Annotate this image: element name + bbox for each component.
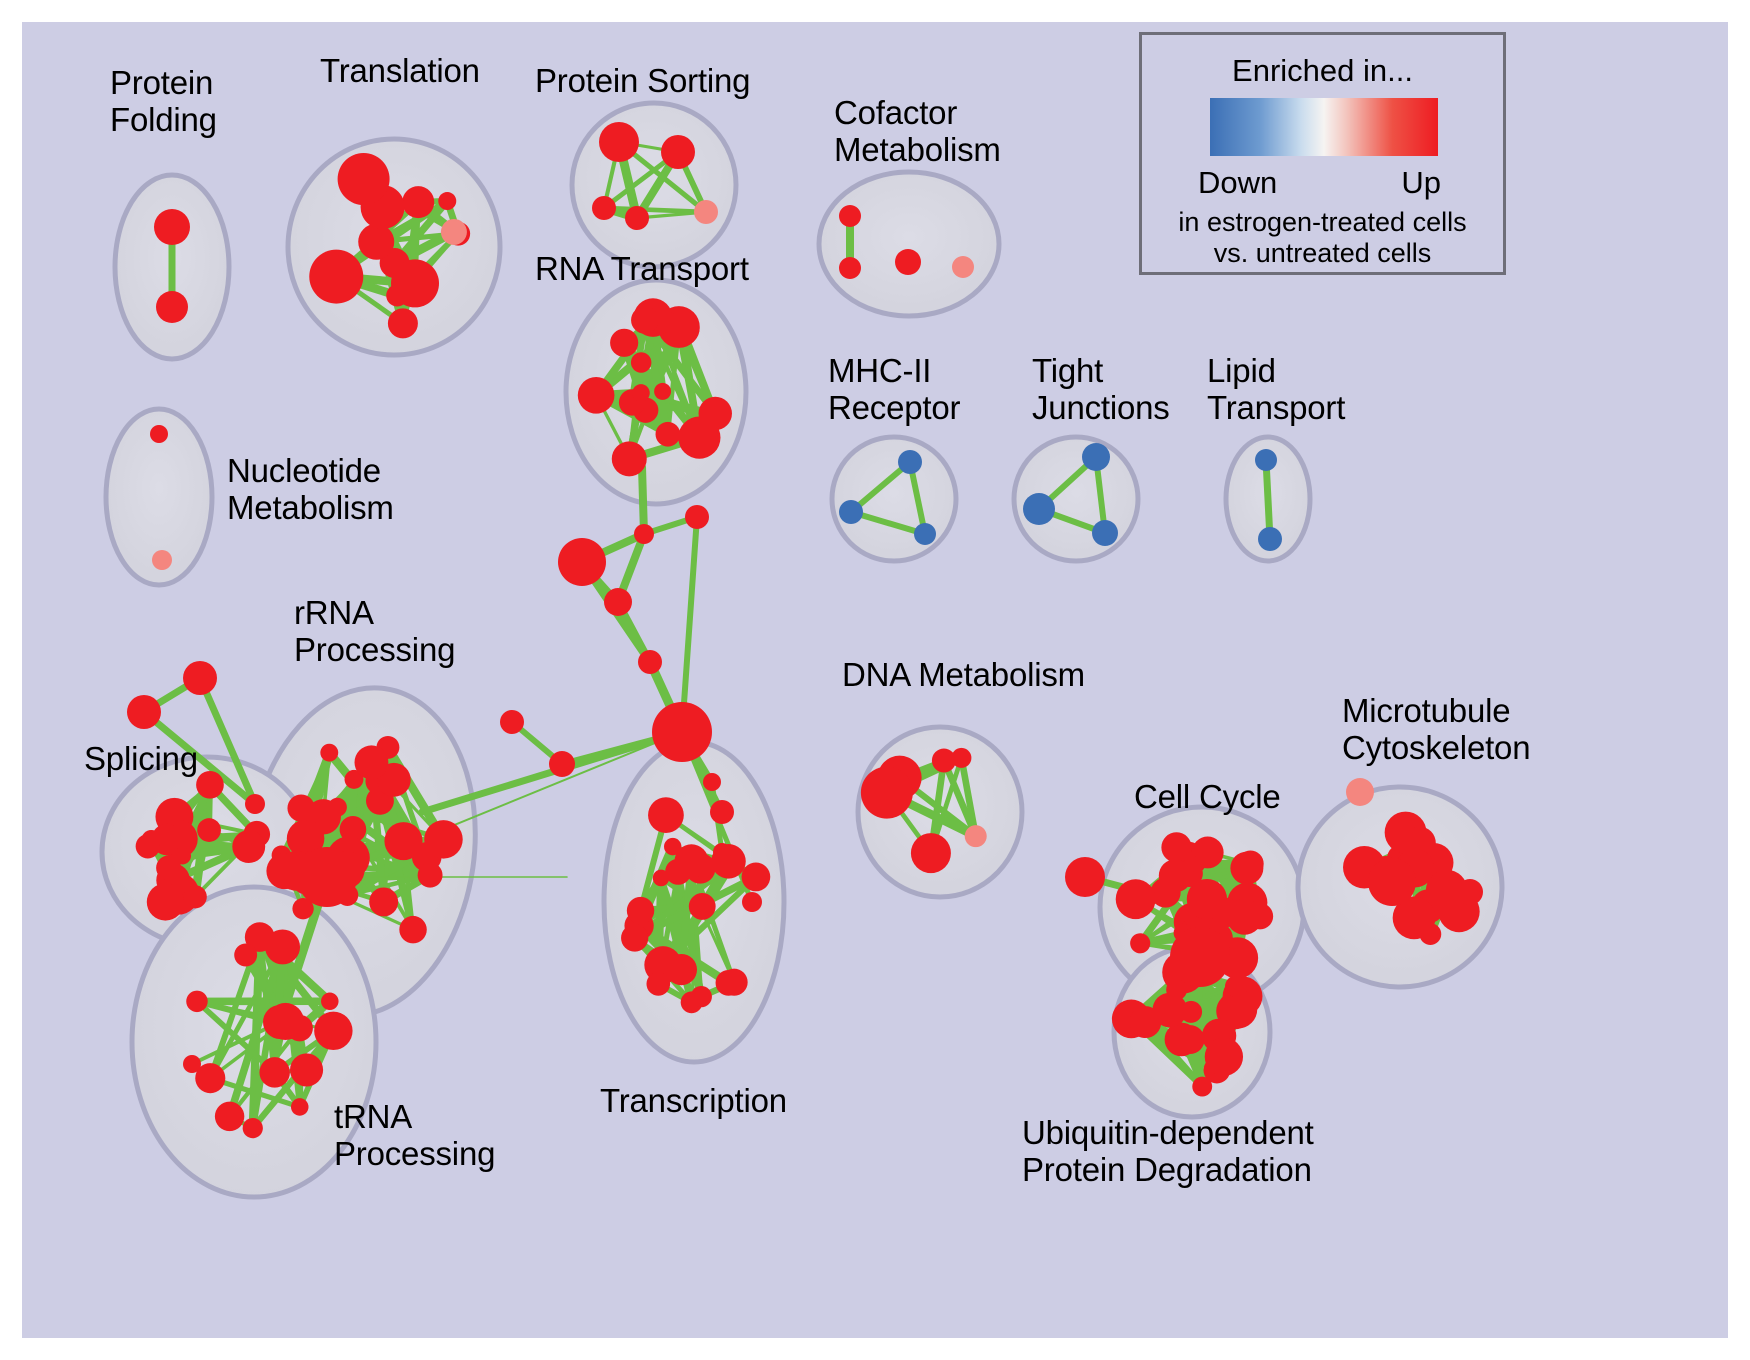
figure-root: Protein FoldingTranslationNucleotide Met…: [0, 0, 1750, 1360]
network-node: [154, 209, 190, 245]
network-node: [638, 650, 662, 674]
cluster-label-translation: Translation: [320, 52, 480, 89]
network-node: [666, 954, 697, 985]
network-node: [127, 695, 161, 729]
legend-low-label: Down: [1198, 165, 1277, 201]
network-node: [911, 833, 951, 873]
cluster-label-cofactor-metabolism: Cofactor Metabolism: [834, 94, 1001, 168]
network-node: [1065, 857, 1105, 897]
network-node: [610, 329, 638, 357]
network-node: [259, 1057, 289, 1087]
network-node: [388, 308, 418, 338]
network-node: [309, 250, 363, 304]
network-node: [369, 887, 398, 916]
network-node: [386, 285, 408, 307]
network-node: [1130, 933, 1150, 953]
network-node: [1205, 1038, 1243, 1076]
cluster-label-splicing: Splicing: [84, 740, 198, 777]
network-node: [1192, 1077, 1212, 1097]
network-canvas: Protein FoldingTranslationNucleotide Met…: [22, 22, 1728, 1338]
network-node: [1419, 923, 1441, 945]
network-node: [1176, 1025, 1205, 1054]
network-node: [742, 892, 762, 912]
network-node: [652, 702, 712, 762]
network-node: [245, 794, 265, 814]
cluster-label-protein-folding: Protein Folding: [110, 64, 217, 138]
network-node: [699, 397, 732, 430]
network-node: [661, 135, 695, 169]
network-node: [402, 186, 434, 218]
network-node: [952, 256, 974, 278]
network-node: [612, 441, 647, 476]
cluster-label-cell-cycle: Cell Cycle: [1134, 778, 1281, 815]
network-node: [1368, 858, 1416, 906]
network-node: [703, 773, 721, 791]
network-node: [839, 257, 861, 279]
network-node: [654, 383, 671, 400]
network-node: [599, 122, 639, 162]
network-node: [265, 929, 300, 964]
network-node: [1152, 993, 1187, 1028]
legend-caption: in estrogen-treated cellsvs. untreated c…: [1142, 207, 1503, 269]
network-node: [358, 224, 394, 260]
network-node: [156, 855, 181, 880]
network-node: [691, 986, 712, 1007]
network-node: [1237, 850, 1263, 876]
network-node: [197, 818, 221, 842]
network-node: [243, 1118, 263, 1138]
network-node: [634, 524, 654, 544]
network-node: [1170, 927, 1230, 987]
network-node: [321, 993, 339, 1011]
network-node: [592, 196, 616, 220]
network-node: [384, 822, 422, 860]
network-node: [721, 969, 748, 996]
cluster-label-mhc-ii-receptor: MHC-II Receptor: [828, 352, 960, 426]
network-node: [1255, 449, 1277, 471]
network-node: [694, 200, 718, 224]
cluster-label-lipid-transport: Lipid Transport: [1207, 352, 1345, 426]
network-node: [150, 425, 168, 443]
network-node: [604, 588, 632, 616]
cluster-label-microtubule-cytoskeleton: Microtubule Cytoskeleton: [1342, 692, 1530, 766]
cluster-hull-mhc-ii-receptor: [832, 437, 956, 561]
network-node: [631, 306, 658, 333]
network-node: [839, 205, 861, 227]
network-node: [914, 523, 936, 545]
network-node: [1116, 879, 1156, 919]
network-node: [653, 870, 670, 887]
network-node: [689, 893, 716, 920]
network-node: [424, 820, 463, 859]
network-node: [232, 830, 265, 863]
edge: [682, 517, 697, 732]
network-node: [621, 924, 648, 951]
network-node: [156, 291, 188, 323]
network-node: [314, 1012, 352, 1050]
network-node: [196, 771, 224, 799]
legend-caption-line1: in estrogen-treated cells: [1178, 207, 1466, 237]
network-node: [631, 352, 651, 372]
network-node: [1161, 832, 1191, 862]
network-node: [1258, 527, 1282, 551]
network-node: [895, 249, 921, 275]
network-node: [287, 794, 314, 821]
network-node: [648, 797, 684, 833]
cluster-label-transcription: Transcription: [600, 1082, 787, 1119]
network-node: [725, 855, 741, 871]
network-node: [186, 991, 207, 1012]
color-gradient-bar: [1210, 98, 1438, 156]
network-node: [354, 745, 388, 779]
legend-caption-line2: vs. untreated cells: [1214, 238, 1432, 268]
network-node: [742, 863, 771, 892]
network-node: [1189, 856, 1205, 872]
network-node: [632, 384, 650, 402]
network-node: [399, 916, 426, 943]
network-node: [578, 377, 615, 414]
legend-title: Enriched in...: [1142, 53, 1503, 89]
network-node: [685, 505, 709, 529]
cluster-label-tight-junctions: Tight Junctions: [1032, 352, 1170, 426]
cluster-label-ubiquitin-protein-degradation: Ubiquitin-dependent Protein Degradation: [1022, 1114, 1314, 1188]
network-node: [234, 944, 257, 967]
edge: [642, 467, 644, 534]
legend-high-label: Up: [1401, 165, 1441, 201]
network-node: [549, 751, 575, 777]
network-node: [147, 883, 184, 920]
network-node: [338, 153, 390, 205]
network-node: [625, 206, 649, 230]
network-node: [665, 311, 700, 346]
network-node: [898, 450, 922, 474]
network-node: [951, 748, 971, 768]
network-node: [418, 863, 443, 888]
network-node: [1211, 898, 1240, 927]
cluster-label-trna-processing: tRNA Processing: [334, 1098, 495, 1172]
network-node: [965, 825, 987, 847]
legend-box: Enriched in... Down Up in estrogen-treat…: [1139, 32, 1506, 275]
network-node: [710, 800, 734, 824]
network-node: [500, 710, 524, 734]
network-node: [1346, 778, 1374, 806]
network-node: [1023, 493, 1055, 525]
network-node: [320, 744, 338, 762]
network-node: [1092, 520, 1118, 546]
network-node: [297, 847, 357, 907]
cluster-label-rrna-processing: rRNA Processing: [294, 594, 455, 668]
network-node: [141, 830, 161, 850]
network-node: [839, 500, 863, 524]
network-node: [558, 538, 606, 586]
cluster-label-rna-transport: RNA Transport: [535, 250, 749, 287]
cluster-label-protein-sorting: Protein Sorting: [535, 62, 750, 99]
network-node: [438, 192, 456, 210]
cluster-label-dna-metabolism: DNA Metabolism: [842, 656, 1085, 693]
network-node: [1457, 879, 1483, 905]
network-node: [861, 767, 913, 819]
network-node: [674, 844, 708, 878]
network-node: [1225, 976, 1246, 997]
network-node: [291, 1098, 309, 1116]
network-node: [152, 550, 172, 570]
network-node: [627, 897, 654, 924]
network-node: [183, 661, 217, 695]
network-node: [1082, 443, 1110, 471]
network-node: [656, 422, 681, 447]
network-node: [263, 1005, 297, 1039]
network-node: [290, 1053, 323, 1086]
cluster-label-nucleotide-metabolism: Nucleotide Metabolism: [227, 452, 394, 526]
network-node: [183, 1055, 201, 1073]
network-node: [441, 219, 467, 245]
network-node: [646, 972, 670, 996]
network-node: [215, 1102, 244, 1131]
